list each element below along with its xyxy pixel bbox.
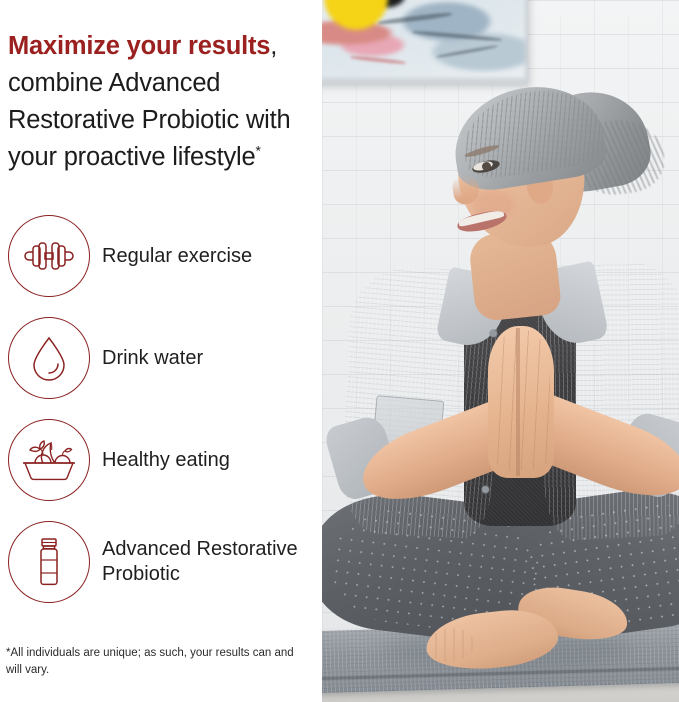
promotional-banner: Maximize your results, combine Advanced …	[0, 0, 679, 702]
fruit-bowl-icon	[8, 419, 90, 501]
text-panel: Maximize your results, combine Advanced …	[0, 0, 322, 702]
list-item-label: Advanced Restorative Probiotic	[102, 537, 317, 587]
list-item: Advanced Restorative Probiotic	[0, 511, 322, 613]
list-item-label: Drink water	[102, 346, 203, 371]
hand-centerline	[516, 328, 520, 476]
list-item-label: Healthy eating	[102, 448, 230, 473]
headline-accent: Maximize your results	[8, 32, 270, 60]
finger-detail	[492, 330, 550, 470]
page-title: Maximize your results, combine Advanced …	[8, 28, 316, 176]
list-item: Healthy eating	[0, 409, 322, 511]
supplement-bottle-icon	[8, 521, 90, 603]
dumbbell-icon	[8, 215, 90, 297]
wall-painting	[322, 0, 528, 84]
list-item: Drink water	[0, 307, 322, 409]
disclaimer-footnote: *All individuals are unique; as such, yo…	[6, 645, 306, 679]
headline-footnote-marker: *	[255, 143, 260, 159]
list-item-label: Regular exercise	[102, 244, 252, 269]
benefit-list: Regular exercise Drink water	[0, 205, 322, 613]
shirt-button	[482, 486, 489, 493]
lifestyle-photo	[322, 0, 679, 702]
list-item: Regular exercise	[0, 205, 322, 307]
shirt-button	[490, 330, 497, 337]
pupil	[482, 162, 491, 171]
water-drop-icon	[8, 317, 90, 399]
